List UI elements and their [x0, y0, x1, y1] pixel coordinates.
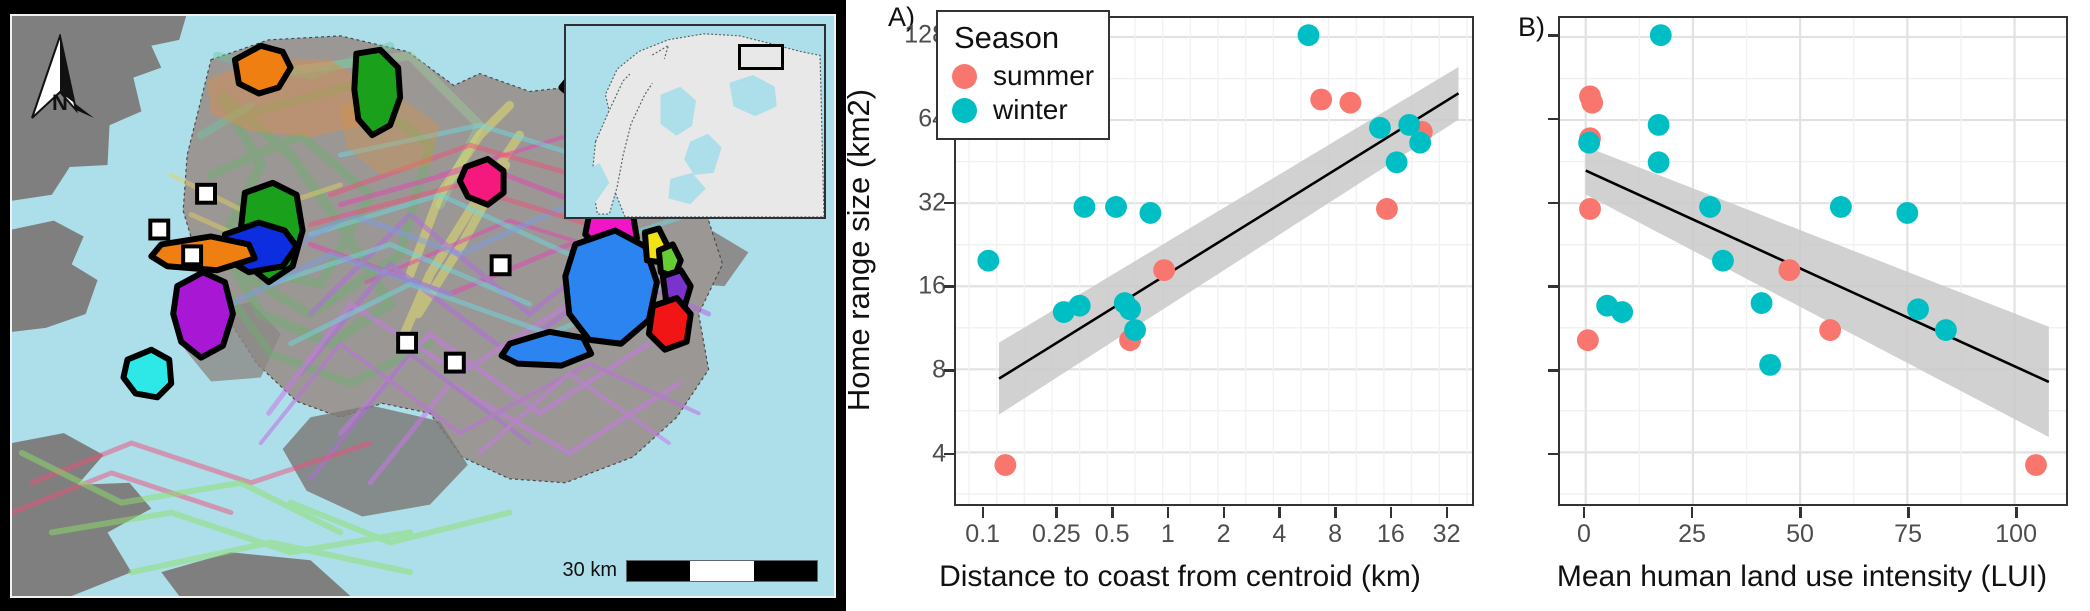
data-point-winter — [1409, 132, 1431, 154]
season-legend: Season summer winter — [936, 10, 1110, 140]
data-point-winter — [1648, 151, 1670, 173]
x-tick-mark — [1446, 507, 1449, 518]
y-tick-mark — [1548, 118, 1558, 121]
data-point-summer — [994, 454, 1016, 476]
x-tick-label: 1 — [1161, 520, 1175, 549]
panel-b-plot-area[interactable] — [1558, 16, 2068, 506]
data-point-winter — [1105, 196, 1127, 218]
y-tick-mark — [944, 369, 954, 372]
x-tick-label: 0.1 — [965, 520, 1000, 549]
x-tick-mark — [1691, 507, 1694, 518]
x-tick-label: 4 — [1272, 520, 1286, 549]
data-point-winter — [1896, 202, 1918, 224]
data-point-summer — [1779, 259, 1801, 281]
y-tick-mark — [1548, 202, 1558, 205]
data-point-winter — [1907, 298, 1929, 320]
y-tick-mark — [944, 202, 954, 205]
y-tick-mark — [944, 285, 954, 288]
panel-a-x-axis-label: Distance to coast from centroid (km) — [846, 560, 1514, 594]
data-point-winter — [1139, 202, 1161, 224]
x-tick-label: 0.5 — [1095, 520, 1130, 549]
panel-a-x-tick-labels: 0.10.250.512481632 — [954, 520, 1474, 554]
legend-dot-winter — [952, 98, 977, 123]
x-tick-mark — [1223, 507, 1226, 518]
inset-extent-box — [738, 44, 784, 70]
data-point-winter — [1759, 354, 1781, 376]
x-tick-label: 32 — [1433, 520, 1461, 549]
x-tick-mark — [1334, 507, 1337, 518]
data-point-winter — [1650, 24, 1672, 46]
x-tick-label: 2 — [1217, 520, 1231, 549]
data-point-summer — [1153, 259, 1175, 281]
y-tick-mark — [944, 453, 954, 456]
data-point-winter — [1124, 319, 1146, 341]
charts-area: A) Home range size (km2) 12864321684 0.1… — [846, 0, 2090, 611]
data-point-winter — [1069, 295, 1091, 317]
panel-b-x-axis-label: Mean human land use intensity (LUI) — [1514, 560, 2090, 594]
x-tick-label: 75 — [1894, 520, 1922, 549]
x-tick-mark — [982, 507, 985, 518]
scale-bar-label: 30 km — [563, 559, 617, 582]
scale-seg-1 — [627, 561, 690, 581]
data-point-summer — [2025, 454, 2047, 476]
data-point-winter — [1830, 196, 1852, 218]
data-point-summer — [1339, 92, 1361, 114]
legend-label-summer: summer — [993, 60, 1094, 92]
figure-root: N — [0, 0, 2090, 611]
data-point-summer — [1376, 198, 1398, 220]
scale-bar: 30 km — [563, 559, 818, 582]
panel-a: A) Home range size (km2) 12864321684 0.1… — [846, 0, 1514, 611]
data-point-winter — [1074, 196, 1096, 218]
legend-title: Season — [954, 20, 1094, 56]
y-tick-mark — [1548, 453, 1558, 456]
panel-b-x-tick-labels: 0255075100 — [1558, 520, 2068, 554]
x-tick-mark — [1278, 507, 1281, 518]
panel-b-scatter-svg — [1560, 18, 2066, 504]
x-tick-label: 100 — [1995, 520, 2037, 549]
x-tick-mark — [2015, 507, 2018, 518]
panel-b-y-tick-labels: 12864321684 — [1488, 16, 1550, 506]
legend-item-winter[interactable]: winter — [952, 94, 1094, 126]
x-tick-mark — [1799, 507, 1802, 518]
legend-dot-summer — [952, 64, 977, 89]
y-tick-label: 32 — [918, 188, 946, 217]
legend-item-summer[interactable]: summer — [952, 60, 1094, 92]
data-point-winter — [1712, 250, 1734, 272]
scale-seg-2 — [690, 561, 753, 581]
data-point-winter — [1578, 132, 1600, 154]
y-tick-mark — [1548, 285, 1558, 288]
data-point-winter — [1935, 319, 1957, 341]
data-point-winter — [1751, 292, 1773, 314]
data-point-summer — [1577, 329, 1599, 351]
x-tick-label: 25 — [1678, 520, 1706, 549]
y-tick-label: 16 — [918, 272, 946, 301]
x-tick-mark — [1907, 507, 1910, 518]
x-tick-label: 16 — [1377, 520, 1405, 549]
x-tick-mark — [1167, 507, 1170, 518]
data-point-winter — [1611, 301, 1633, 323]
x-tick-label: 0 — [1577, 520, 1591, 549]
data-point-summer — [1579, 198, 1601, 220]
data-point-winter — [1386, 151, 1408, 173]
map-canvas[interactable]: N — [12, 16, 834, 596]
data-point-winter — [977, 250, 999, 272]
scale-bar-segments — [626, 560, 818, 582]
scale-seg-3 — [754, 561, 817, 581]
data-point-winter — [1119, 298, 1141, 320]
data-point-winter — [1648, 114, 1670, 136]
x-tick-label: 0.25 — [1032, 520, 1081, 549]
map-panel: N — [0, 0, 846, 611]
x-tick-mark — [1055, 507, 1058, 518]
data-point-summer — [1310, 89, 1332, 111]
x-tick-mark — [1111, 507, 1114, 518]
map-frame: N — [10, 14, 836, 598]
inset-vector-layer — [566, 26, 824, 217]
north-label: N — [52, 90, 68, 116]
data-point-summer — [1581, 92, 1603, 114]
x-tick-label: 8 — [1328, 520, 1342, 549]
panel-b: B) 12864321684 0255075100 Mean human lan… — [1514, 0, 2090, 611]
data-point-summer — [1819, 319, 1841, 341]
panel-a-y-axis-label: Home range size (km2) — [841, 89, 877, 411]
x-tick-mark — [1583, 507, 1586, 518]
y-tick-mark — [1548, 34, 1558, 37]
data-point-winter — [1699, 196, 1721, 218]
x-tick-label: 50 — [1786, 520, 1814, 549]
y-tick-mark — [1548, 369, 1558, 372]
legend-label-winter: winter — [993, 94, 1068, 126]
data-point-winter — [1369, 117, 1391, 139]
data-point-winter — [1298, 24, 1320, 46]
x-tick-mark — [1390, 507, 1393, 518]
scandinavia-inset-map — [564, 24, 826, 219]
